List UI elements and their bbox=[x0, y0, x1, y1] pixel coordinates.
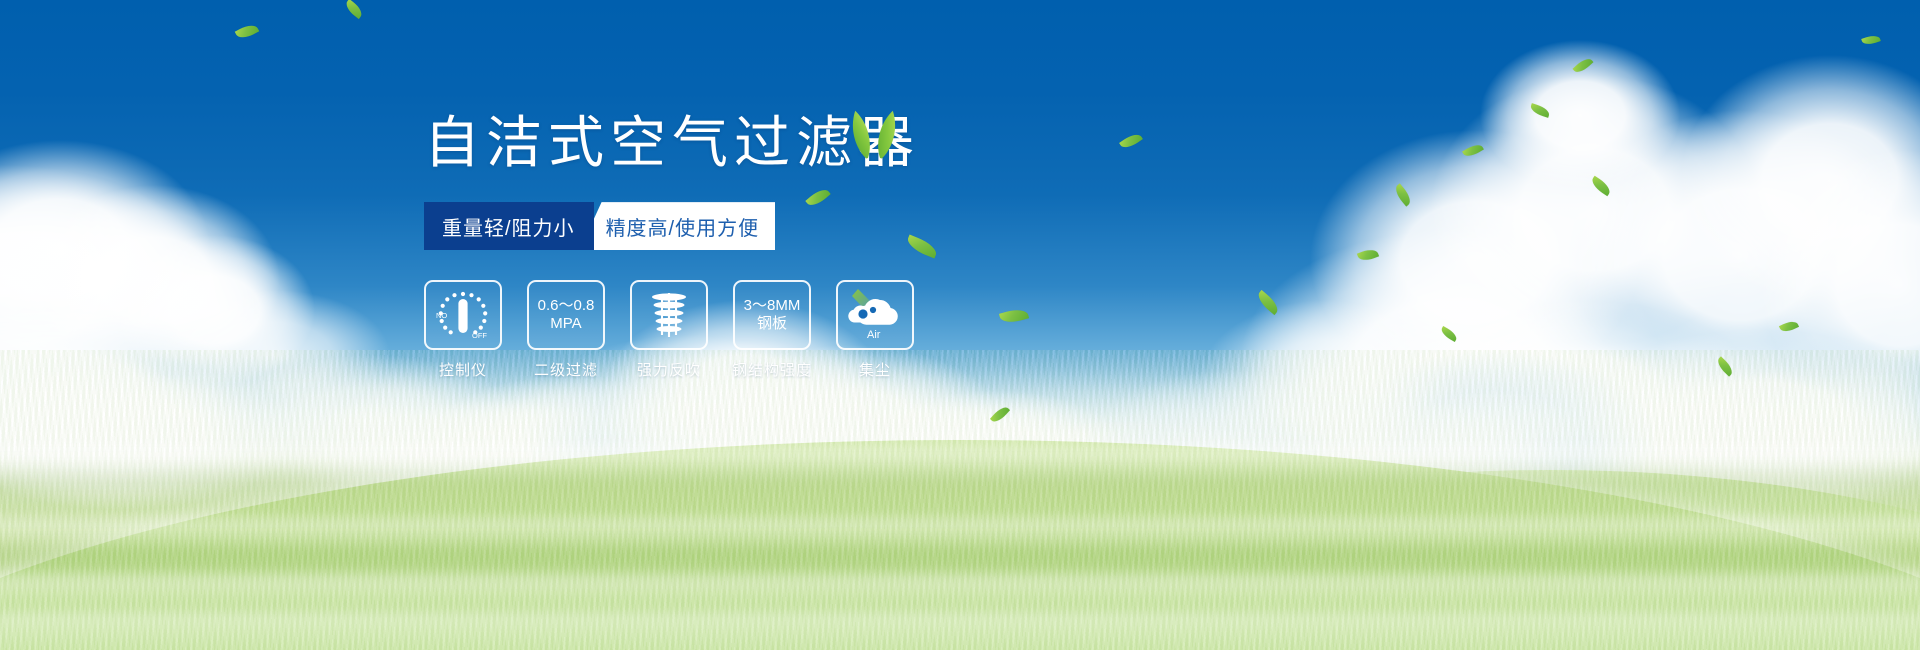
title-leaves-icon bbox=[834, 106, 914, 162]
tab-precision-easyuse[interactable]: 精度高/使用方便 bbox=[580, 202, 776, 250]
feature-item-dust-collection[interactable]: Air 集尘 bbox=[836, 280, 914, 380]
feature-item-strong-backblow[interactable]: 强力反吹 bbox=[630, 280, 708, 380]
air-caption: Air bbox=[867, 329, 881, 341]
control-dial-icon: NO OFF bbox=[432, 287, 494, 343]
feature-label: 钢结构强度 bbox=[732, 359, 812, 380]
feature-item-two-stage-filter[interactable]: 0.6～0.8 MPA 二级过滤 bbox=[527, 280, 605, 380]
leaf-icon bbox=[1357, 247, 1379, 263]
steel-plate-text-icon: 3～8MM 钢板 bbox=[744, 297, 801, 332]
leaf-icon bbox=[1439, 326, 1459, 342]
dial-off-label: OFF bbox=[472, 331, 487, 340]
leaf-icon bbox=[1589, 176, 1613, 197]
feature-icon-box: NO OFF bbox=[424, 280, 502, 350]
leaf-icon bbox=[1392, 183, 1414, 206]
feature-icon-box: Air bbox=[836, 280, 914, 350]
dial-on-label: NO bbox=[436, 311, 447, 320]
leaf-icon bbox=[343, 0, 365, 19]
feature-label: 二级过滤 bbox=[534, 359, 598, 380]
feature-item-controller[interactable]: NO OFF 控制仪 bbox=[424, 280, 502, 380]
tab-label: 重量轻/阻力小 bbox=[442, 212, 575, 241]
feature-label: 强力反吹 bbox=[637, 359, 701, 380]
feature-icon-box: 0.6～0.8 MPA bbox=[527, 280, 605, 350]
feature-icon-box bbox=[630, 280, 708, 350]
tab-label: 精度高/使用方便 bbox=[606, 212, 760, 241]
hero-banner: 自洁式空气过滤器 重量轻/阻力小 精度高/使用方便 bbox=[0, 0, 1920, 650]
feature-label: 控制仪 bbox=[439, 359, 487, 380]
banner-content: 自洁式空气过滤器 重量轻/阻力小 精度高/使用方便 bbox=[424, 110, 1144, 380]
leaf-icon bbox=[1255, 290, 1282, 315]
leaf-icon bbox=[1779, 319, 1799, 335]
leaf-icon bbox=[1573, 55, 1594, 75]
filter-cartridge-icon bbox=[642, 288, 696, 342]
title-leaf-decoration bbox=[834, 106, 914, 162]
feature-icon-row: NO OFF 控制仪 0.6～0.8 MPA 二级过滤 bbox=[424, 280, 1144, 380]
grass-field bbox=[0, 350, 1920, 650]
pressure-text-icon: 0.6～0.8 MPA bbox=[538, 297, 595, 332]
leaf-icon bbox=[1462, 142, 1484, 160]
feature-icon-box: 3～8MM 钢板 bbox=[733, 280, 811, 350]
page-title: 自洁式空气过滤器 bbox=[424, 110, 1144, 176]
leaf-icon bbox=[1529, 103, 1551, 118]
tab-lightweight-lowresistance[interactable]: 重量轻/阻力小 bbox=[424, 202, 594, 250]
feature-tabs: 重量轻/阻力小 精度高/使用方便 bbox=[424, 202, 821, 250]
leaf-icon bbox=[235, 21, 260, 41]
leaf-icon bbox=[1861, 33, 1881, 46]
air-cloud-icon: Air bbox=[844, 287, 906, 343]
feature-label: 集尘 bbox=[859, 359, 891, 380]
feature-item-steel-strength[interactable]: 3～8MM 钢板 钢结构强度 bbox=[733, 280, 811, 380]
